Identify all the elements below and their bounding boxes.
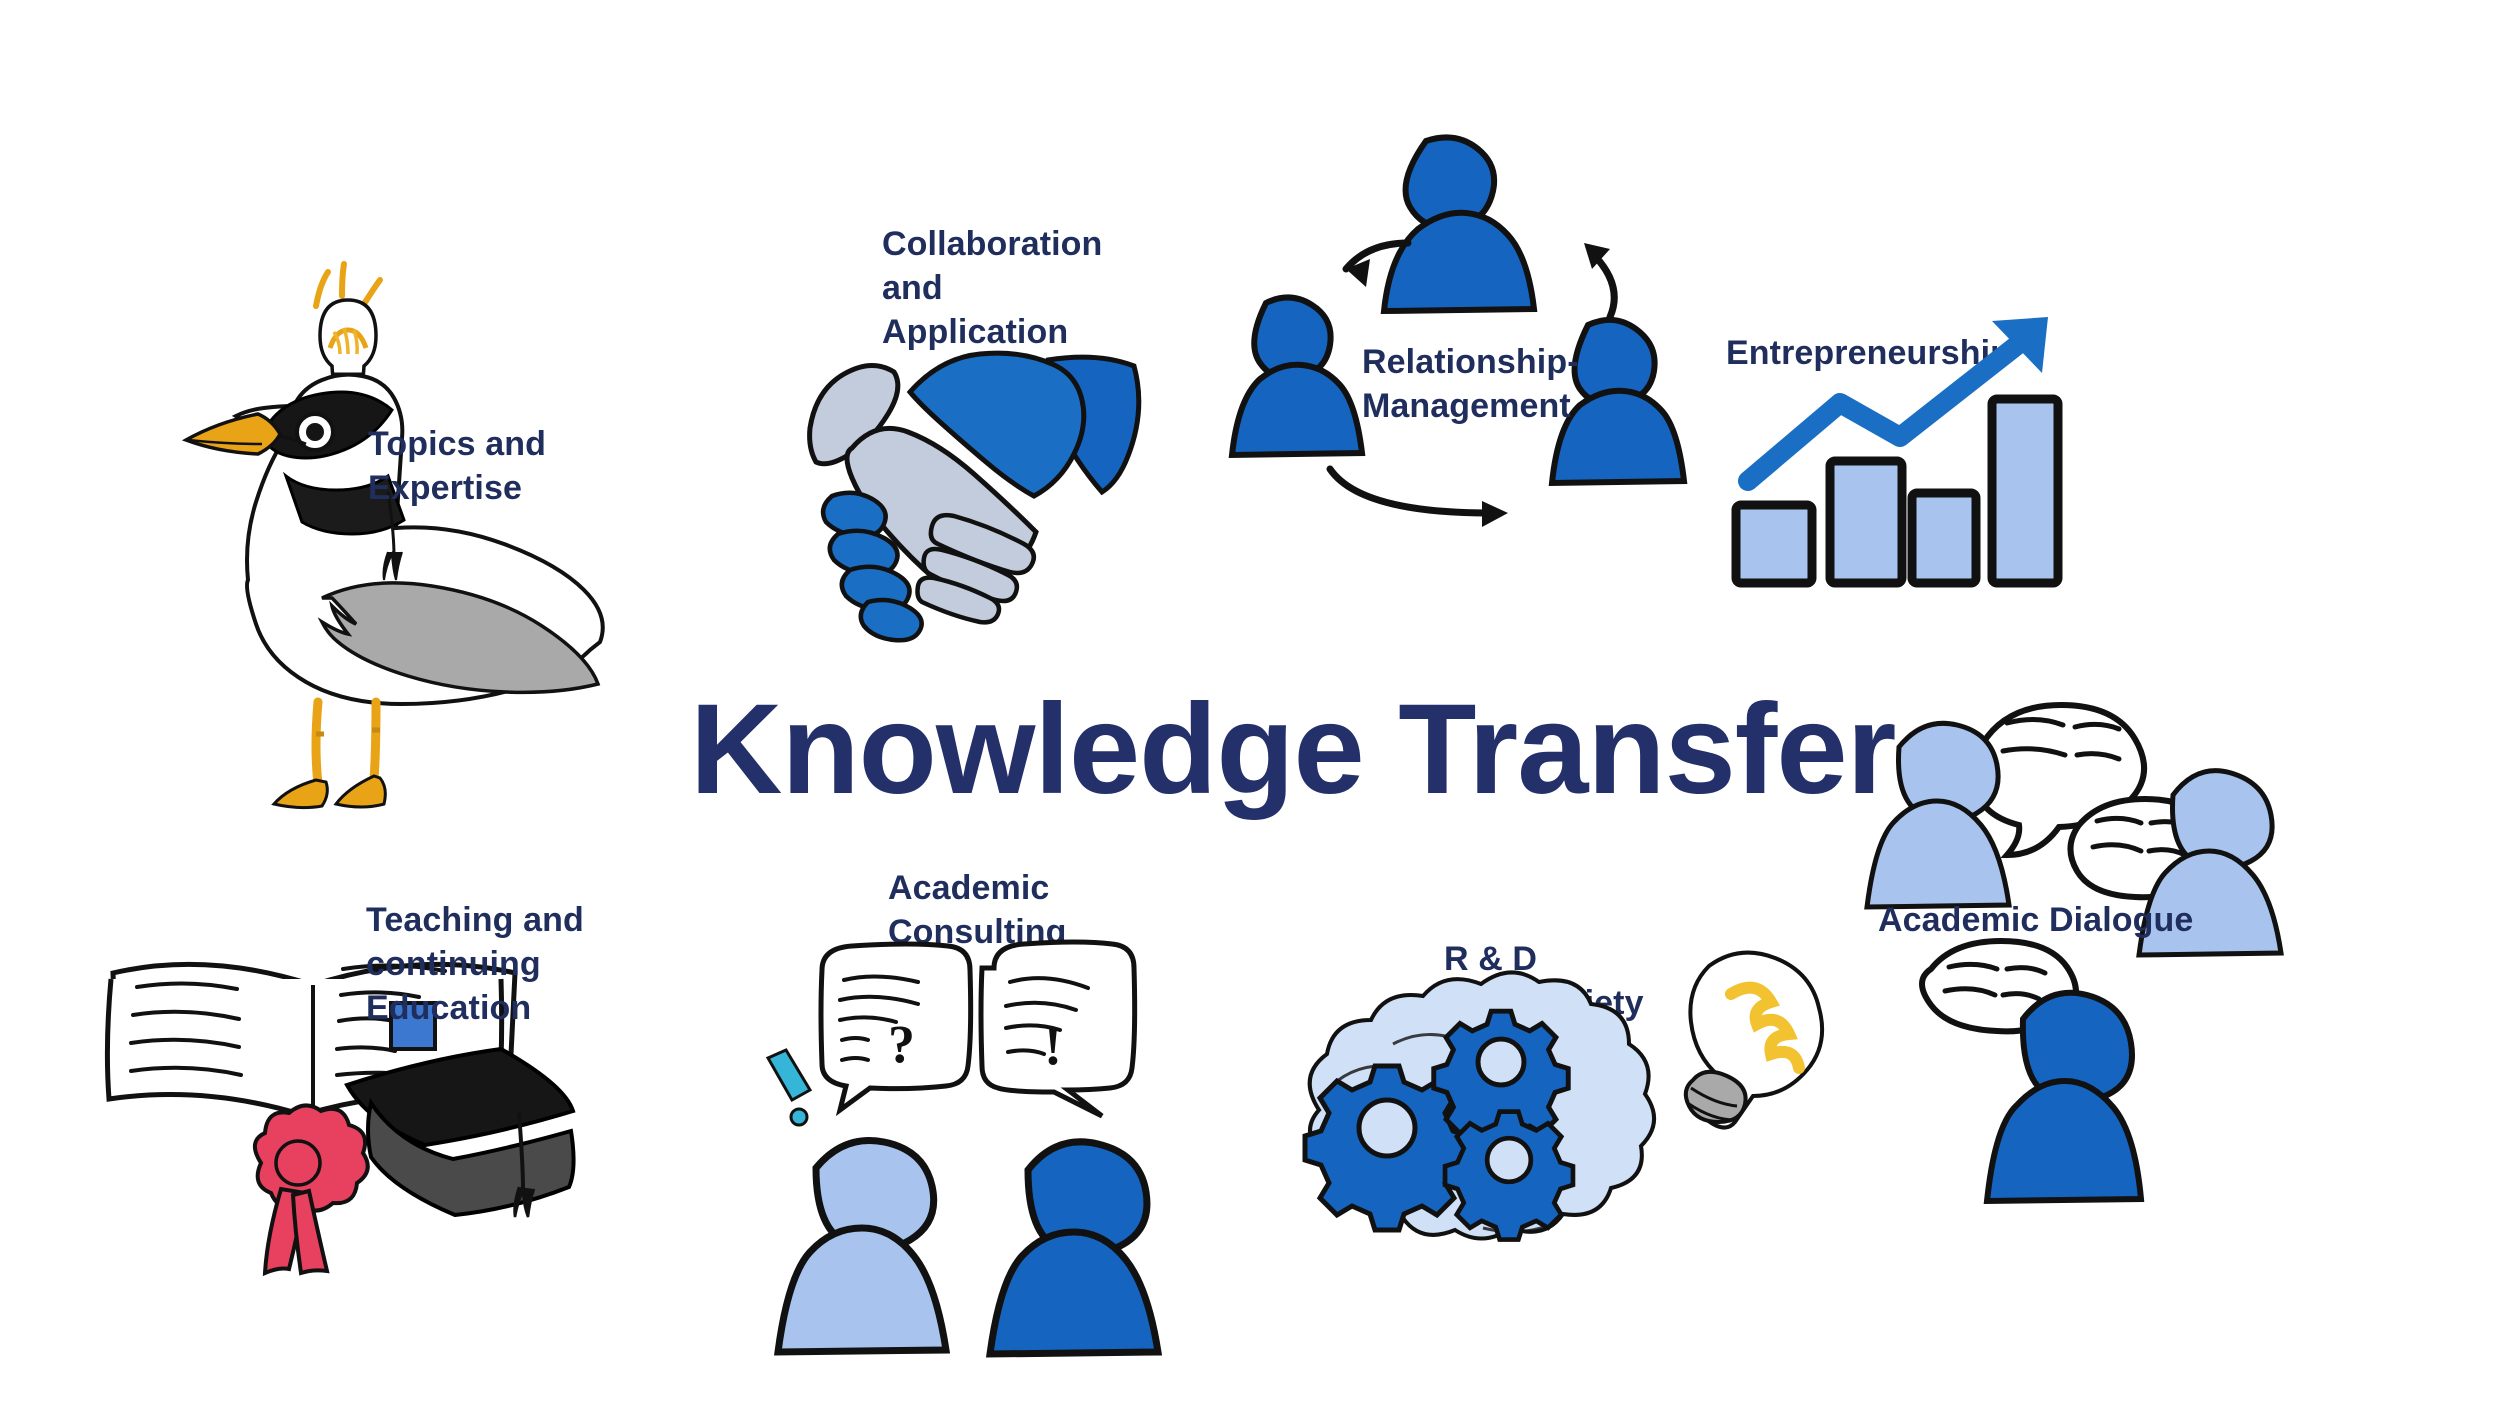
curved-arrow-bottom [1330, 469, 1490, 513]
label-teaching-and-continuing-education: Teaching and continuing Education [366, 898, 626, 1031]
cloud-brain [1305, 972, 1654, 1239]
handshake-icon [790, 330, 1170, 630]
bar-4 [1992, 399, 2058, 583]
seagull-with-graduation-cap-icon [130, 240, 570, 800]
dark-blue-person [990, 1142, 1158, 1354]
label-relationship-management: Relationship- Management [1362, 340, 1622, 428]
page-title: Knowledge Transfer [690, 686, 1895, 814]
light-blue-person-left [1867, 723, 2009, 907]
lightbulb-icon [1686, 953, 1822, 1128]
svg-text:!: ! [1044, 1016, 1062, 1076]
bar-2 [1830, 461, 1902, 583]
svg-text:?: ? [888, 1014, 915, 1074]
gear-bottom [1445, 1112, 1573, 1240]
brain-with-gears-and-lightbulb-icon [1265, 960, 1865, 1320]
label-academic-dialogue: Academic Dialogue [1878, 898, 2218, 942]
three-people-cycle-icon [1250, 125, 1680, 525]
graduation-cap-with-tassel [347, 1049, 574, 1217]
person-top [1384, 137, 1534, 311]
red-award-rosette [255, 1105, 368, 1273]
two-people-question-answer-icon: ? ! [760, 930, 1180, 1350]
growth-bar-chart-icon [1730, 315, 2100, 625]
light-blue-person [778, 1140, 946, 1352]
yellow-feet [274, 702, 385, 808]
speech-bubble-exclamation: ! [981, 942, 1135, 1116]
speech-bubble-question: ? [821, 944, 971, 1110]
person-left [1232, 297, 1362, 455]
infographic-canvas: Topics and Expertise Collaboration and A… [0, 0, 2500, 1407]
cyan-exclamation-mark [768, 1050, 810, 1125]
bar-1 [1736, 505, 1812, 583]
lightbulb-idea-icon [316, 264, 380, 388]
arrowhead-bottom [1482, 501, 1508, 527]
bar-3 [1912, 493, 1976, 583]
three-people-speech-bubbles-icon [1875, 685, 2295, 1205]
label-topics-and-expertise: Topics and Expertise [368, 422, 618, 510]
